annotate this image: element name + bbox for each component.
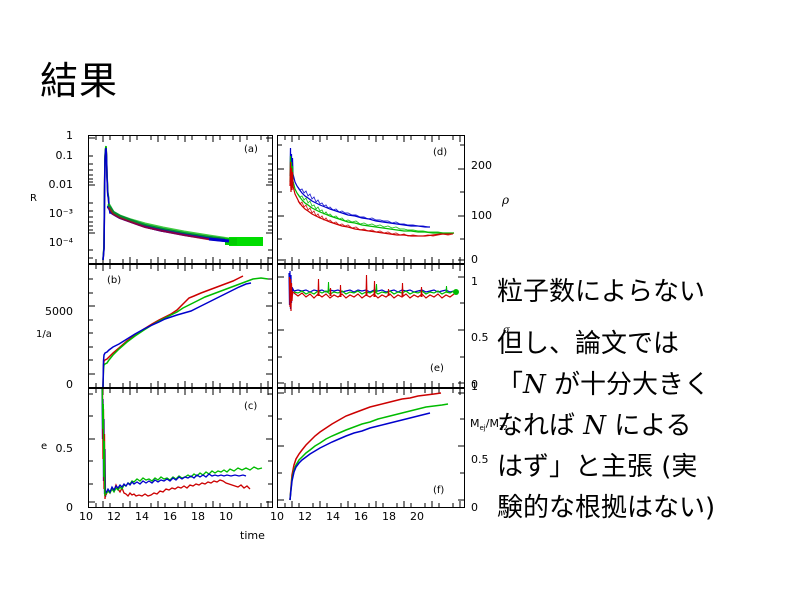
panel-c-ylabel: e bbox=[41, 441, 47, 452]
panel-a-ytick-0p01: 0.01 bbox=[29, 178, 73, 191]
xtick-left-12: 12 bbox=[107, 510, 121, 523]
panel-b-ytick-5000: 5000 bbox=[29, 305, 73, 318]
panel-e-svg: (e) bbox=[278, 265, 464, 387]
panel-f-svg: (f) bbox=[278, 389, 464, 507]
panel-d-svg: (d) bbox=[278, 136, 464, 263]
panel-b-svg: (b) bbox=[89, 265, 272, 387]
panel-d-ytick-200: 200 bbox=[471, 159, 492, 172]
panel-e-ytick-0p5: 0.5 bbox=[471, 331, 489, 344]
x-axis-label: time bbox=[240, 529, 265, 542]
panel-f-ytick-0p5: 0.5 bbox=[471, 453, 489, 466]
svg-text:(f): (f) bbox=[433, 485, 444, 496]
annotation-lead-line: 粒子数によらない bbox=[497, 272, 777, 313]
annotation-line-3-variable: N bbox=[523, 370, 546, 400]
slide-root: 結果 1 0.1 0.01 10⁻³ 10⁻⁴ R 5000 0 1/a 0.5… bbox=[0, 0, 800, 600]
panel-d-ytick-100: 100 bbox=[471, 209, 492, 222]
annotation-line-4-post: による bbox=[606, 411, 692, 441]
panel-e-plot: (e) bbox=[277, 264, 465, 388]
xtick-left-20: 10 bbox=[219, 510, 233, 523]
panel-c-plot: (c) bbox=[88, 388, 273, 508]
annotation-line-4: なれば N による bbox=[497, 406, 777, 447]
panel-d-plot: (d) bbox=[277, 135, 465, 264]
xtick-left-18: 18 bbox=[191, 510, 205, 523]
xtick-right-14: 14 bbox=[326, 510, 340, 523]
annotation-line-4-variable: N bbox=[583, 411, 606, 441]
annotation-text-block: 粒子数によらない 但し、論文では 「N が十分大きく なれば N による はず」… bbox=[497, 272, 777, 529]
panel-a-ytick-1: 1 bbox=[29, 129, 73, 142]
annotation-line-2: 但し、論文では bbox=[497, 324, 777, 365]
svg-text:(d): (d) bbox=[433, 147, 447, 158]
panel-a-ytick-1e-3: 10⁻³ bbox=[29, 207, 73, 220]
panel-d-ylabel: ρ bbox=[502, 193, 509, 207]
annotation-line-5: はず」と主張 (実 bbox=[497, 447, 777, 488]
panel-f-plot: (f) bbox=[277, 388, 465, 508]
panel-b-ylabel: 1/a bbox=[36, 329, 52, 340]
xtick-right-18: 18 bbox=[382, 510, 396, 523]
xtick-left-10: 10 bbox=[79, 510, 93, 523]
annotation-line-4-pre: なれば bbox=[497, 411, 583, 441]
svg-text:(a): (a) bbox=[244, 144, 258, 155]
panel-a-ylabel: R bbox=[30, 193, 37, 204]
panel-a-svg: (a) bbox=[89, 136, 272, 263]
panel-b-ytick-0: 0 bbox=[29, 378, 73, 391]
svg-text:(c): (c) bbox=[244, 401, 257, 412]
panel-c-ytick-0p5: 0.5 bbox=[29, 442, 73, 455]
xtick-right-12: 12 bbox=[298, 510, 312, 523]
panel-f-ylabel-m: M bbox=[470, 417, 480, 430]
xtick-right-16: 16 bbox=[354, 510, 368, 523]
panel-c-svg: (c) bbox=[89, 389, 272, 507]
panel-f-ytick-0: 0 bbox=[471, 501, 478, 514]
page-title: 結果 bbox=[40, 58, 118, 104]
annotation-line-3: 「N が十分大きく bbox=[497, 365, 777, 406]
figure-panel-grid: 1 0.1 0.01 10⁻³ 10⁻⁴ R 5000 0 1/a 0.5 0 … bbox=[30, 135, 480, 555]
panel-a-ytick-0p1: 0.1 bbox=[29, 149, 73, 162]
xtick-right-10: 10 bbox=[270, 510, 284, 523]
annotation-line-6: 験的な根拠はない) bbox=[497, 488, 777, 529]
panel-d-ytick-0: 0 bbox=[471, 253, 478, 266]
panel-c-ytick-0: 0 bbox=[29, 501, 73, 514]
panel-f-ytick-1: 1 bbox=[471, 380, 478, 393]
panel-b-plot: (b) bbox=[88, 264, 273, 388]
xtick-right-20: 20 bbox=[410, 510, 424, 523]
svg-text:(b): (b) bbox=[107, 275, 121, 286]
xtick-left-14: 14 bbox=[135, 510, 149, 523]
panel-a-ytick-1e-4: 10⁻⁴ bbox=[29, 236, 73, 249]
svg-text:(e): (e) bbox=[430, 363, 444, 374]
panel-a-plot: (a) bbox=[88, 135, 273, 264]
panel-e-ytick-1: 1 bbox=[471, 275, 478, 288]
xtick-left-16: 16 bbox=[163, 510, 177, 523]
annotation-line-3-open: 「 bbox=[497, 370, 523, 400]
annotation-line-3-rest: が十分大きく bbox=[546, 370, 710, 400]
